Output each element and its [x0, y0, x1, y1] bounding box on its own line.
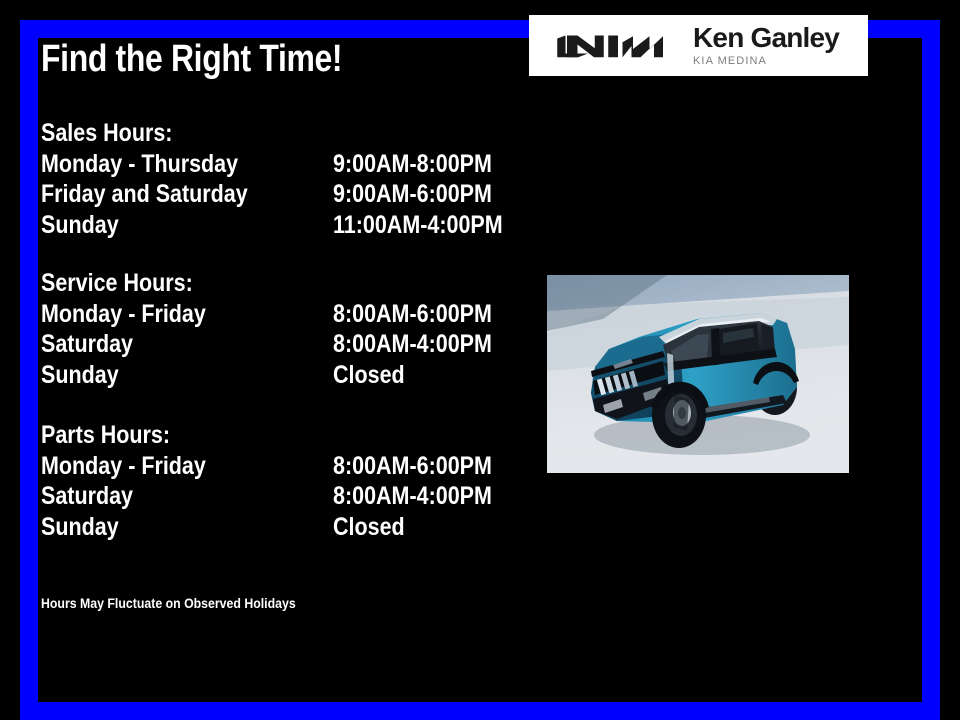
holiday-disclaimer: Hours May Fluctuate on Observed Holidays [41, 595, 296, 611]
hours-row-day: Saturday [41, 329, 133, 360]
hours-row: Monday - Friday 8:00AM-6:00PM [41, 451, 511, 482]
hours-row-day: Saturday [41, 481, 133, 512]
vehicle-photo [547, 275, 849, 473]
hours-row-time: 8:00AM-4:00PM [333, 329, 492, 360]
hours-row: Sunday 11:00AM-4:00PM [41, 210, 511, 241]
page-title: Find the Right Time! [41, 38, 342, 81]
hours-row: Sunday Closed [41, 360, 511, 391]
hours-row-time: 8:00AM-6:00PM [333, 451, 492, 482]
section-heading: Sales Hours: [41, 118, 445, 149]
dealer-name: Ken Ganley [693, 24, 839, 52]
kia-ev9-illustration [547, 275, 849, 473]
hours-row: Friday and Saturday 9:00AM-6:00PM [41, 179, 511, 210]
hours-row: Monday - Thursday 9:00AM-8:00PM [41, 149, 511, 180]
hours-row-time: Closed [333, 360, 405, 391]
hours-row: Saturday 8:00AM-4:00PM [41, 481, 511, 512]
hours-row: Sunday Closed [41, 512, 511, 543]
hours-row-time: 8:00AM-4:00PM [333, 481, 492, 512]
hours-section-service: Service Hours: Monday - Friday 8:00AM-6:… [41, 268, 511, 390]
hours-row-time: 11:00AM-4:00PM [333, 210, 503, 241]
hours-row-day: Friday and Saturday [41, 179, 248, 210]
hours-row: Saturday 8:00AM-4:00PM [41, 329, 511, 360]
kia-logomark-icon [555, 31, 669, 61]
hours-row: Monday - Friday 8:00AM-6:00PM [41, 299, 511, 330]
hours-row-time: 9:00AM-8:00PM [333, 149, 492, 180]
section-heading: Parts Hours: [41, 420, 445, 451]
hours-section-parts: Parts Hours: Monday - Friday 8:00AM-6:00… [41, 420, 511, 542]
hours-row-day: Sunday [41, 210, 119, 241]
dealer-logo-banner: Ken Ganley KIA MEDINA [529, 15, 868, 76]
hours-row-day: Monday - Friday [41, 299, 206, 330]
hours-row-day: Sunday [41, 360, 119, 391]
hours-section-sales: Sales Hours: Monday - Thursday 9:00AM-8:… [41, 118, 511, 240]
hours-row-day: Sunday [41, 512, 119, 543]
hours-row-time: 9:00AM-6:00PM [333, 179, 492, 210]
slide-canvas: Find the Right Time! Sales Hours: Monday… [0, 0, 960, 720]
hours-row-time: Closed [333, 512, 405, 543]
hours-row-day: Monday - Thursday [41, 149, 238, 180]
hours-row-time: 8:00AM-6:00PM [333, 299, 492, 330]
section-heading: Service Hours: [41, 268, 445, 299]
hours-row-day: Monday - Friday [41, 451, 206, 482]
dealer-subtitle: KIA MEDINA [693, 56, 839, 67]
dealer-wordmark: Ken Ganley KIA MEDINA [693, 24, 839, 67]
